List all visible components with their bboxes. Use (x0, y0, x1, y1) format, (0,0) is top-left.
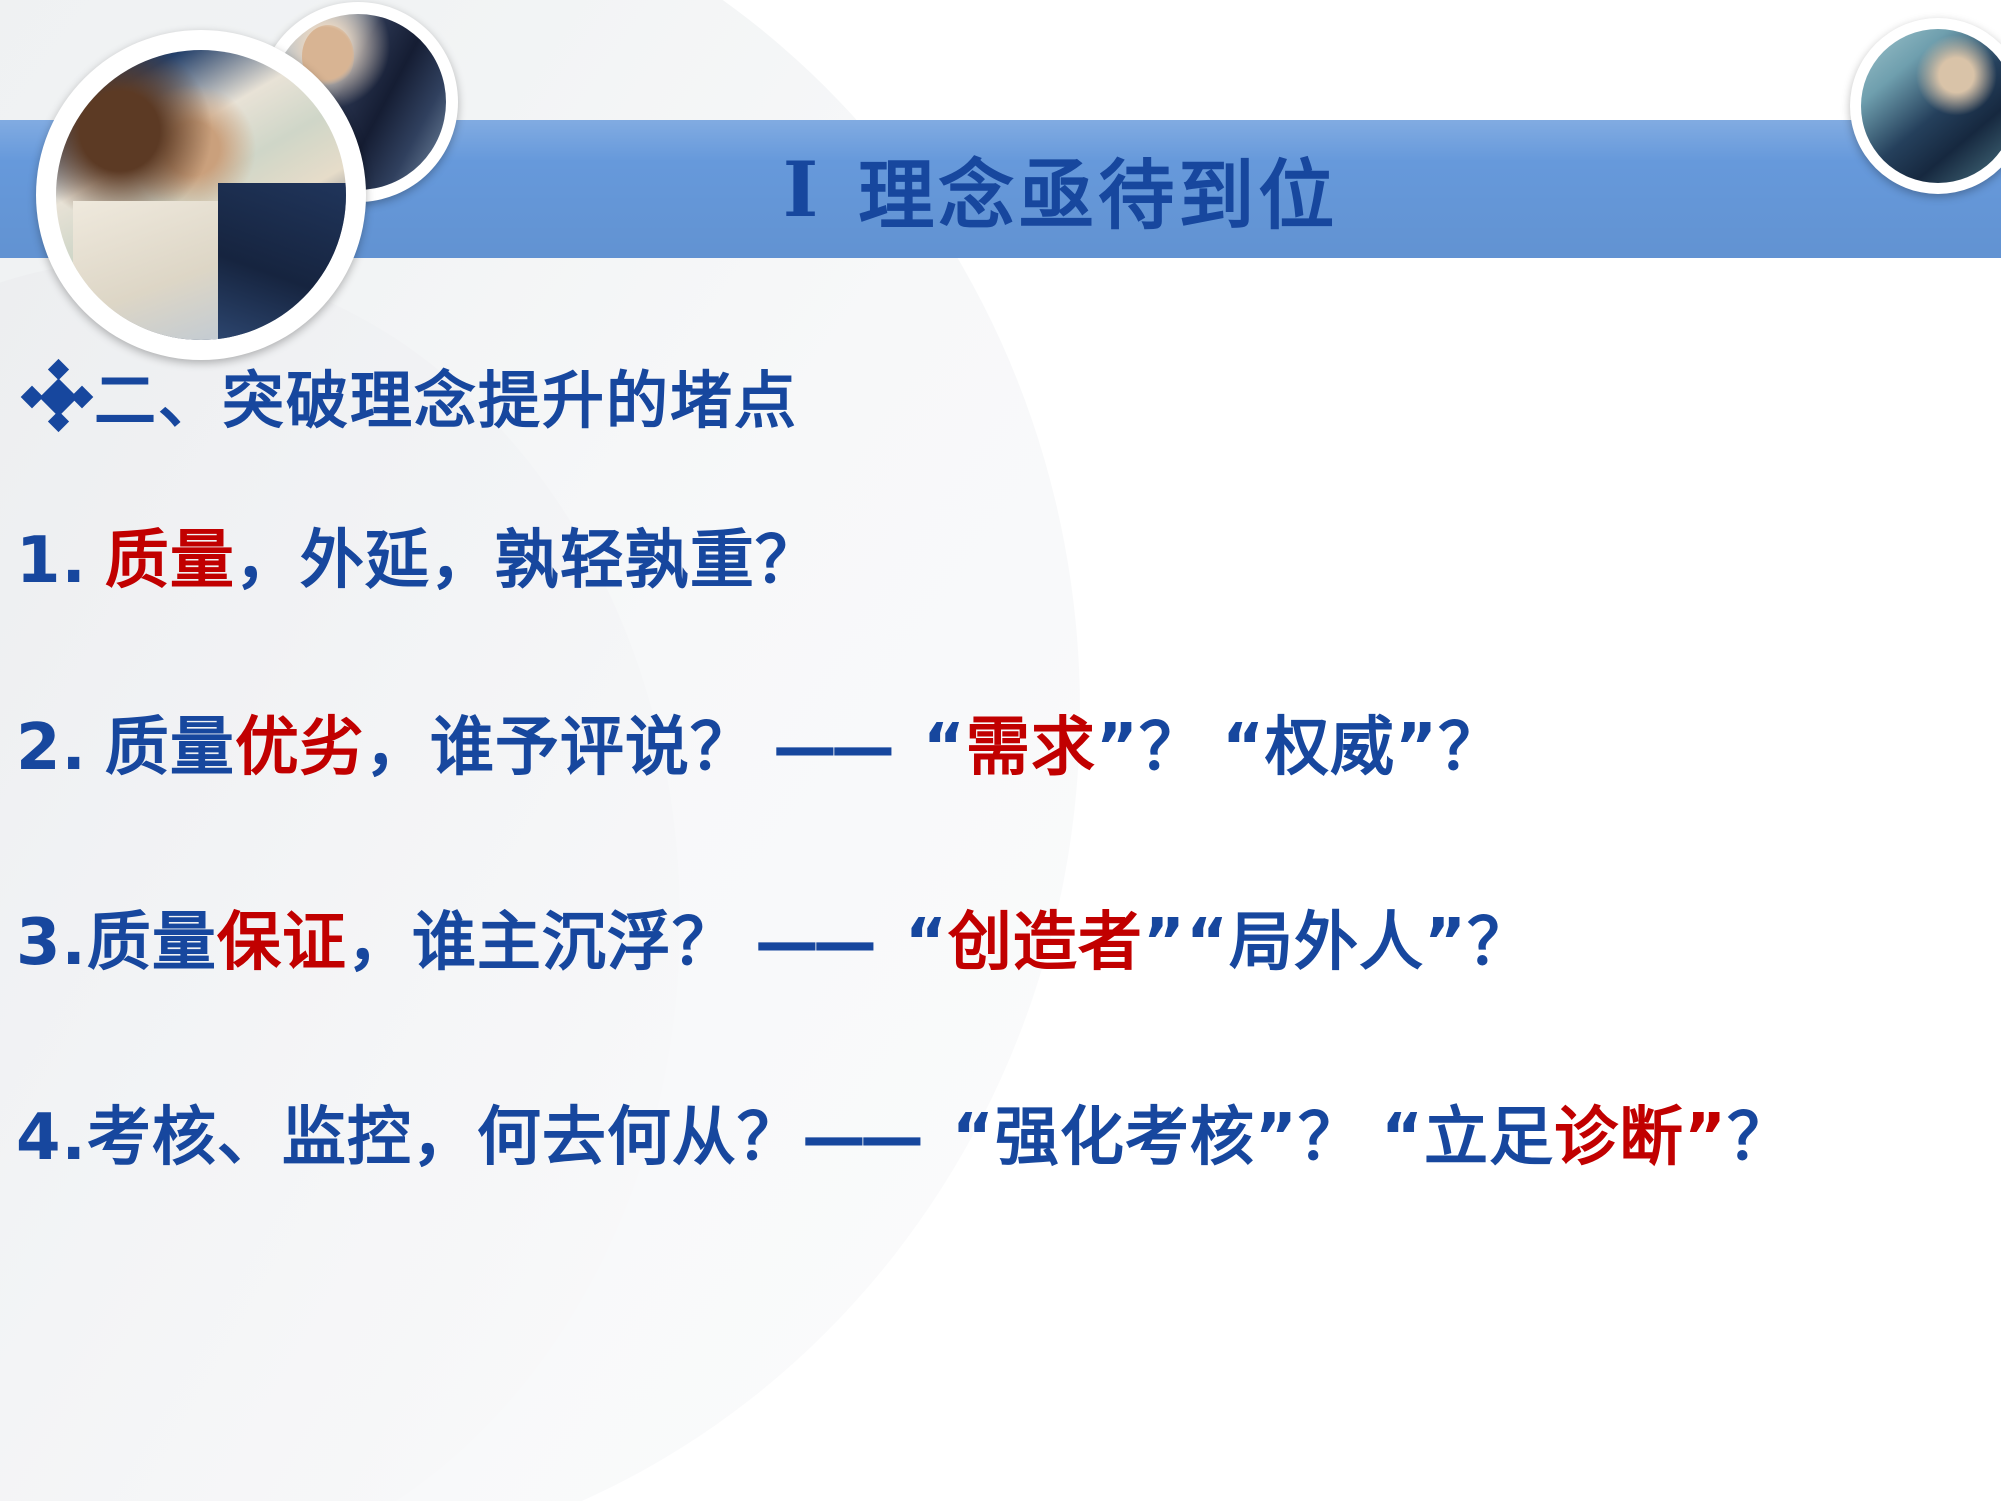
item-run-dash: —— (802, 1101, 918, 1175)
slide-title-text: 理念亟待到位 (858, 134, 1338, 244)
slide-canvas: Ⅰ 理念亟待到位 二、突破理念提升的堵点 1.质量，外延，孰轻孰重？ 2.质量优… (0, 0, 2001, 1501)
item-run-text: 质量 (87, 906, 217, 980)
item-run-text: ，谁予评说？ (365, 711, 755, 785)
subheading-text: 二、突破理念提升的堵点 (94, 350, 798, 440)
item-number: 4. (16, 1101, 87, 1175)
item-run-text: “强化考核”？ (952, 1101, 1363, 1175)
item-run-quote-close: ” (1684, 1101, 1727, 1175)
section-numeral: Ⅰ (783, 145, 823, 234)
item-run-highlight: 诊断 (1554, 1101, 1684, 1175)
slide-body: 二、突破理念提升的堵点 1.质量，外延，孰轻孰重？ 2.质量优劣，谁予评说？——… (0, 258, 2001, 1501)
item-run-text: “立足 (1381, 1101, 1554, 1175)
list-item: 2.质量优劣，谁予评说？——“需求”？“权威”？ (16, 713, 1503, 785)
item-run-text: “局外人”？ (1186, 906, 1532, 980)
subheading-row: 二、突破理念提升的堵点 (22, 350, 798, 440)
list-item: 4.考核、监控，何去何从？——“强化考核”？“立足诊断”？ (16, 1103, 1986, 1175)
list-item: 1.质量，外延，孰轻孰重？ (16, 526, 820, 598)
item-run-text: ”？ (1096, 711, 1204, 785)
item-run-quote-open: “ (923, 711, 966, 785)
item-run-quote-close: ” (1143, 906, 1186, 980)
item-run-text: 考核、监控，何去何从？ (87, 1101, 802, 1175)
item-run-text: ，外延，孰轻孰重？ (235, 524, 820, 598)
item-run-highlight: 优劣 (235, 711, 365, 785)
item-run-quote-open: “ (905, 906, 948, 980)
item-run-text: ？ (1727, 1101, 1792, 1175)
item-run-highlight: 质量 (105, 524, 235, 598)
presenter-writing-portrait-image (1861, 29, 2001, 184)
item-number: 2. (16, 711, 87, 785)
item-run-highlight: 创造者 (948, 906, 1143, 980)
diamond-cluster-bullet-icon (22, 362, 88, 428)
item-run-highlight: 保证 (217, 906, 347, 980)
item-number: 3. (16, 906, 87, 980)
item-run-text: “权威”？ (1222, 711, 1503, 785)
item-number: 1. (16, 524, 87, 598)
item-run-dash: —— (773, 711, 889, 785)
item-run-text: 质量 (105, 711, 235, 785)
item-run-highlight: 需求 (966, 711, 1096, 785)
list-item: 3.质量保证，谁主沉浮？——“创造者”“局外人”？ (16, 908, 1532, 980)
item-run-text: ，谁主沉浮？ (347, 906, 737, 980)
item-run-dash: —— (755, 906, 871, 980)
